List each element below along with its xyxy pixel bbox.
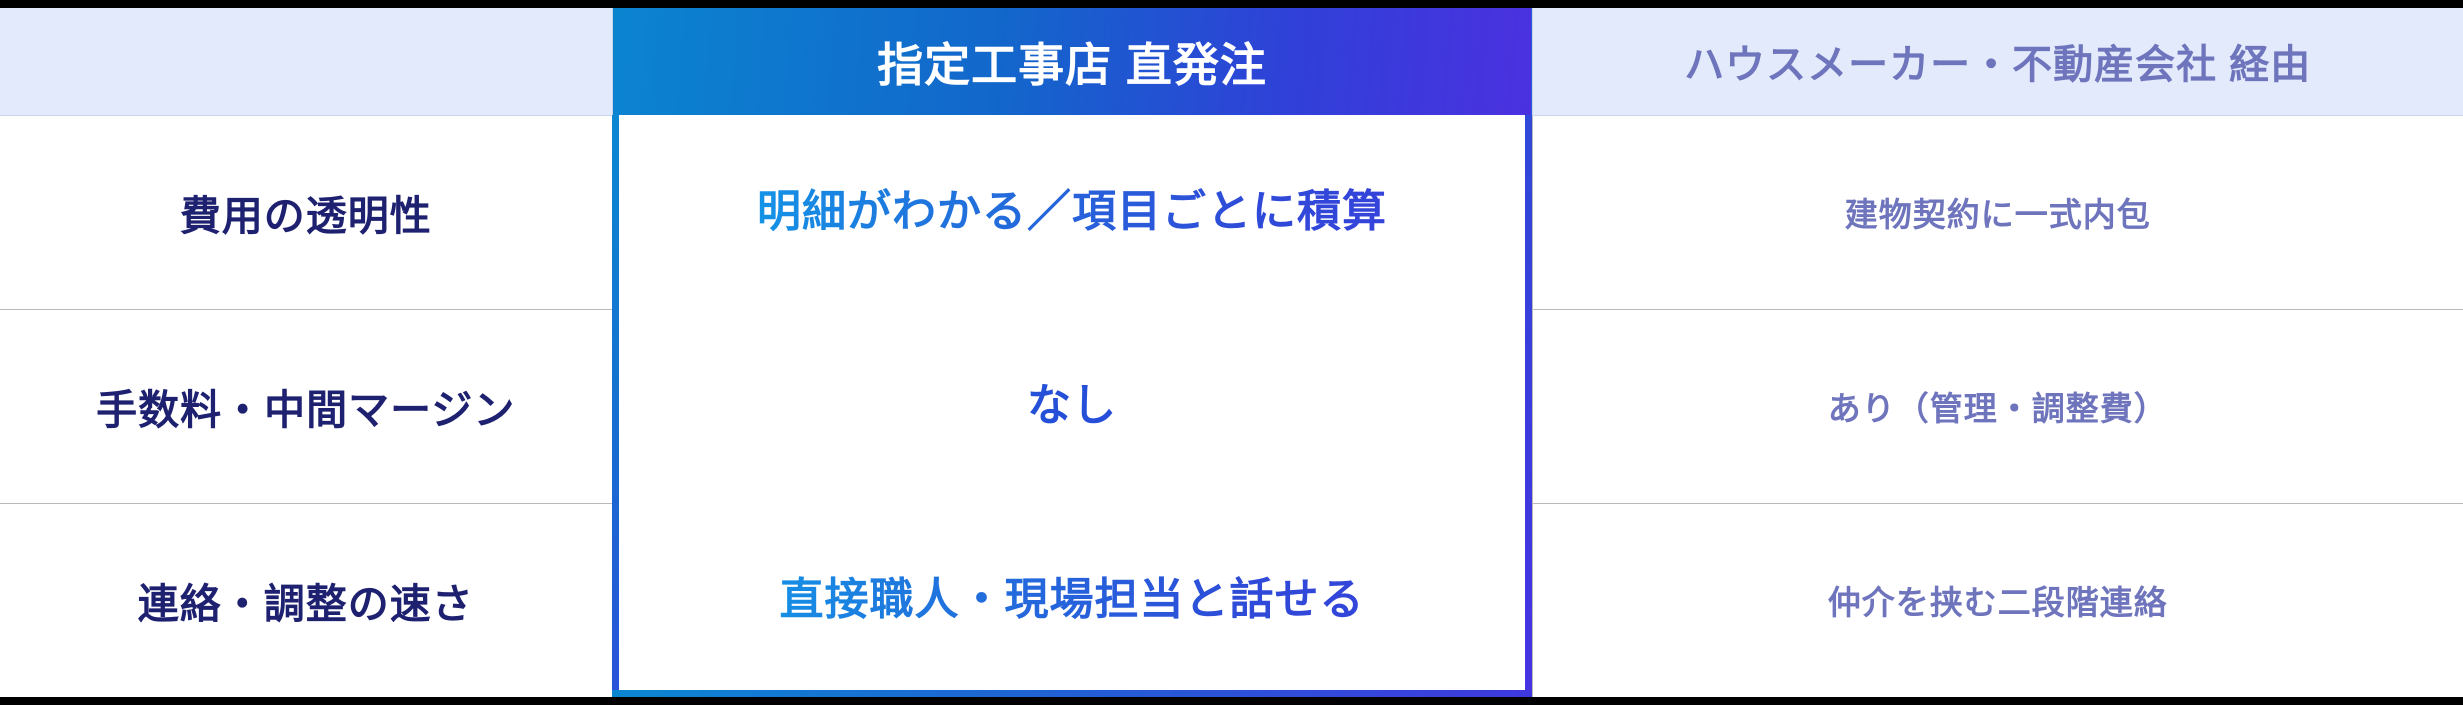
header-direct-order: 指定工事店 直発注: [612, 8, 1532, 115]
table-row: 費用の透明性 明細がわかる／項目ごとに積算 建物契約に一式内包: [0, 115, 2463, 309]
row-label-communication-speed: 連絡・調整の速さ: [0, 503, 612, 697]
row-label-cost-transparency: 費用の透明性: [0, 115, 612, 309]
cell-via-cost-transparency: 建物契約に一式内包: [1532, 115, 2463, 309]
table-row: 連絡・調整の速さ 直接職人・現場担当と話せる 仲介を挟む二段階連絡: [0, 503, 2463, 697]
cell-direct-cost-transparency: 明細がわかる／項目ごとに積算: [612, 115, 1532, 309]
cell-via-communication-speed: 仲介を挟む二段階連絡: [1532, 503, 2463, 697]
table-header-row: 指定工事店 直発注 ハウスメーカー・不動産会社 経由: [0, 8, 2463, 115]
cell-direct-cost-transparency-text: 明細がわかる／項目ごとに積算: [613, 187, 1532, 238]
header-via-housemaker: ハウスメーカー・不動産会社 経由: [1532, 8, 2463, 115]
comparison-table: 指定工事店 直発注 ハウスメーカー・不動産会社 経由 費用の透明性 明細がわかる…: [0, 8, 2463, 698]
cell-direct-fees-margin-text: なし: [613, 381, 1532, 432]
header-criterion-empty: [0, 8, 612, 115]
cell-via-fees-margin: あり（管理・調整費）: [1532, 309, 2463, 503]
cell-direct-communication-speed-text: 直接職人・現場担当と話せる: [613, 575, 1532, 626]
row-label-fees-margin: 手数料・中間マージン: [0, 309, 612, 503]
letterbox-bottom: [0, 697, 2463, 705]
cell-direct-fees-margin: なし: [612, 309, 1532, 503]
letterbox-top: [0, 0, 2463, 8]
table-body: 費用の透明性 明細がわかる／項目ごとに積算 建物契約に一式内包 手数料・中間マー…: [0, 115, 2463, 697]
cell-direct-communication-speed: 直接職人・現場担当と話せる: [612, 503, 1532, 697]
comparison-sheet: 指定工事店 直発注 ハウスメーカー・不動産会社 経由 費用の透明性 明細がわかる…: [0, 8, 2463, 697]
table-row: 手数料・中間マージン なし あり（管理・調整費）: [0, 309, 2463, 503]
